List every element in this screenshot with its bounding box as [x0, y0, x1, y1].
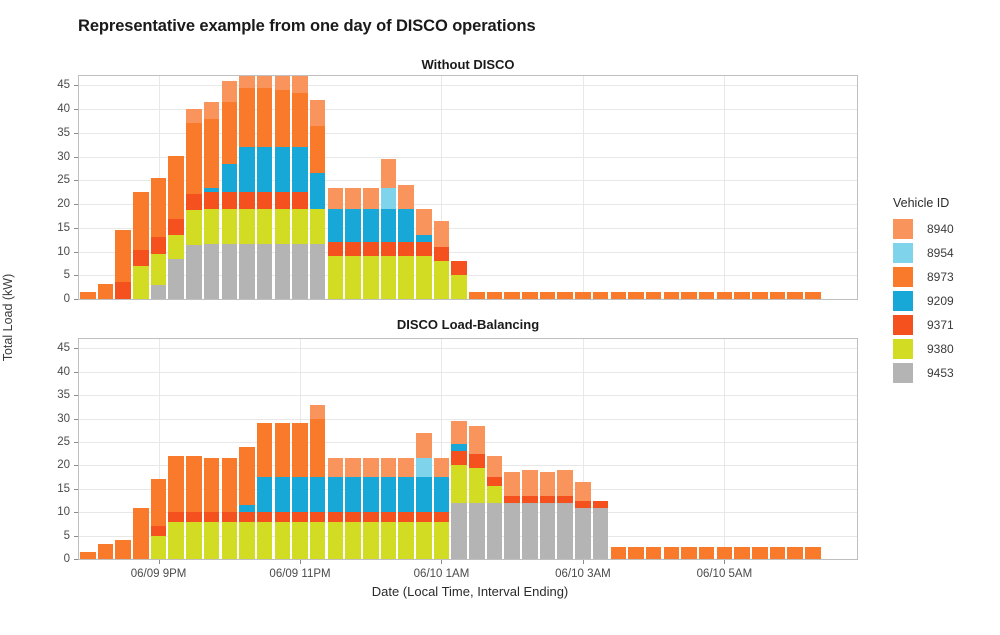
bar-segment-8940 — [239, 75, 255, 88]
bar-segment-9371 — [133, 250, 149, 266]
bar-segment-9453 — [292, 244, 308, 299]
bar-segment-9453 — [593, 508, 609, 559]
stacked-bar — [292, 423, 308, 559]
bar-segment-9453 — [222, 244, 238, 299]
bar-segment-8973 — [487, 292, 503, 299]
bar-segment-9371 — [222, 512, 238, 521]
stacked-bar — [275, 423, 291, 559]
bar-segment-8940 — [257, 75, 273, 88]
bar-segment-9209 — [398, 477, 414, 512]
bar-segment-8973 — [805, 547, 821, 559]
bar-segment-8973 — [80, 552, 96, 559]
bar-segment-9371 — [363, 512, 379, 521]
bar-segment-8940 — [328, 458, 344, 477]
bar-segment-8973 — [611, 292, 627, 299]
bar-segment-8973 — [204, 458, 220, 512]
x-axis-tick-label: 06/09 9PM — [131, 568, 187, 580]
bar-segment-9371 — [328, 242, 344, 256]
bar-segment-9380 — [151, 536, 167, 559]
bar-segment-8940 — [504, 472, 520, 495]
bar-segment-9380 — [345, 256, 361, 299]
bar-segment-8973 — [151, 479, 167, 526]
bar-segment-9453 — [487, 503, 503, 559]
stacked-bar — [133, 192, 149, 299]
bar-segment-9209 — [381, 209, 397, 242]
x-axis-tick-mark — [159, 560, 160, 564]
stacked-bar — [557, 470, 573, 559]
stacked-bar — [540, 472, 556, 559]
y-axis-tick-mark — [74, 133, 78, 134]
stacked-bar — [628, 547, 644, 559]
stacked-bar — [717, 292, 733, 299]
bar-segment-9371 — [328, 512, 344, 521]
bar-segment-9371 — [257, 192, 273, 209]
legend-label: 9209 — [927, 294, 954, 308]
bar-segment-9209 — [416, 477, 432, 512]
bar-segment-9371 — [575, 501, 591, 508]
bar-segment-8940 — [381, 458, 397, 477]
bar-segment-9371 — [416, 242, 432, 256]
bar-segment-8973 — [168, 156, 184, 219]
legend-swatch-icon — [893, 315, 913, 335]
stacked-bar — [98, 284, 114, 299]
bar-segment-8940 — [434, 221, 450, 247]
stacked-bar — [681, 292, 697, 299]
bar-segment-9380 — [434, 261, 450, 299]
legend-label: 9371 — [927, 318, 954, 332]
bar-segment-9380 — [239, 209, 255, 245]
y-axis-tick-label: 20 — [36, 198, 70, 210]
bar-segment-9371 — [186, 194, 202, 210]
bar-segment-9453 — [504, 503, 520, 559]
stacked-bar — [752, 547, 768, 559]
gridline-horizontal — [79, 372, 857, 373]
stacked-bar — [805, 292, 821, 299]
stacked-bar — [787, 292, 803, 299]
x-axis-tick-label: 06/10 3AM — [555, 568, 611, 580]
legend-item-8954[interactable]: 8954 — [893, 241, 954, 265]
bar-segment-8973 — [222, 458, 238, 512]
stacked-bar — [575, 292, 591, 299]
x-axis-tick-mark — [300, 560, 301, 564]
bar-segment-8940 — [540, 472, 556, 495]
bar-segment-9380 — [186, 210, 202, 246]
bar-segment-9453 — [275, 244, 291, 299]
bar-segment-9209 — [239, 147, 255, 192]
bar-segment-9209 — [451, 444, 467, 451]
bar-segment-9380 — [204, 209, 220, 245]
y-axis-tick-label: 10 — [36, 506, 70, 518]
stacked-bar — [239, 447, 255, 559]
bar-segment-9371 — [522, 496, 538, 503]
bar-segment-8940 — [434, 458, 450, 477]
stacked-bar — [204, 458, 220, 559]
stacked-bar — [451, 421, 467, 559]
y-axis-tick-mark — [74, 299, 78, 300]
legend-title: Vehicle ID — [893, 196, 954, 210]
bar-segment-8940 — [381, 159, 397, 187]
y-axis-tick-mark — [74, 442, 78, 443]
stacked-bar — [416, 433, 432, 559]
bar-segment-9371 — [345, 242, 361, 256]
bar-segment-8940 — [345, 458, 361, 477]
bar-segment-9380 — [222, 522, 238, 559]
stacked-bar — [734, 547, 750, 559]
bar-segment-9380 — [133, 266, 149, 299]
bar-segment-9380 — [275, 522, 291, 559]
stacked-bar — [469, 292, 485, 299]
bar-segment-9453 — [522, 503, 538, 559]
bar-segment-9209 — [345, 477, 361, 512]
gridline-horizontal — [79, 442, 857, 443]
bar-segment-9209 — [345, 209, 361, 242]
bar-segment-9371 — [451, 261, 467, 275]
bar-segment-9371 — [363, 242, 379, 256]
bar-segment-9371 — [292, 512, 308, 521]
bar-segment-8973 — [115, 540, 131, 559]
bar-segment-9453 — [540, 503, 556, 559]
y-axis-tick-mark — [74, 465, 78, 466]
bar-segment-8973 — [734, 292, 750, 299]
stacked-bar — [168, 456, 184, 559]
gridline-horizontal — [79, 395, 857, 396]
y-axis-tick-mark — [74, 228, 78, 229]
bar-segment-9380 — [292, 522, 308, 559]
y-axis-tick-label: 15 — [36, 483, 70, 495]
stacked-bar — [310, 405, 326, 559]
bar-segment-9371 — [381, 242, 397, 256]
bar-segment-9209 — [416, 235, 432, 242]
bar-segment-9209 — [434, 477, 450, 512]
bar-segment-9380 — [168, 522, 184, 559]
bar-segment-9453 — [239, 244, 255, 299]
bar-segment-9380 — [381, 522, 397, 559]
stacked-bar — [664, 547, 680, 559]
bar-segment-8973 — [628, 292, 644, 299]
stacked-bar — [434, 221, 450, 299]
bar-segment-9371 — [469, 454, 485, 468]
bar-segment-8973 — [275, 90, 291, 147]
bar-segment-8973 — [752, 547, 768, 559]
y-axis-title: Total Load (kW) — [0, 0, 18, 635]
bar-segment-9371 — [151, 237, 167, 254]
stacked-bar — [115, 230, 131, 299]
stacked-bar — [469, 426, 485, 559]
stacked-bar — [381, 458, 397, 559]
bar-segment-9380 — [416, 522, 432, 559]
stacked-bar — [646, 547, 662, 559]
bar-segment-8973 — [168, 456, 184, 512]
y-axis-tick-label: 10 — [36, 246, 70, 258]
bar-segment-9371 — [593, 501, 609, 508]
bar-segment-9209 — [363, 209, 379, 242]
stacked-bar — [257, 423, 273, 559]
bar-segment-8973 — [292, 93, 308, 148]
bar-segment-9380 — [204, 522, 220, 559]
bar-segment-8940 — [575, 482, 591, 501]
bar-segment-9371 — [487, 477, 503, 486]
stacked-bar — [98, 544, 114, 559]
bar-segment-9209 — [310, 477, 326, 512]
bar-segment-8973 — [151, 178, 167, 237]
bar-segment-9209 — [381, 477, 397, 512]
bar-segment-9371 — [292, 192, 308, 209]
bar-segment-8973 — [133, 508, 149, 559]
y-axis-tick-mark — [74, 180, 78, 181]
legend-label: 8940 — [927, 222, 954, 236]
bar-segment-8973 — [257, 423, 273, 477]
bar-segment-8940 — [398, 185, 414, 209]
figure-title: Representative example from one day of D… — [78, 17, 536, 36]
gridline-horizontal — [79, 419, 857, 420]
bar-segment-9371 — [204, 192, 220, 209]
bar-segment-9371 — [451, 451, 467, 465]
bar-segment-8973 — [664, 547, 680, 559]
y-axis-tick-mark — [74, 395, 78, 396]
bar-segment-9209 — [257, 477, 273, 512]
bar-segment-8940 — [469, 426, 485, 454]
bar-segment-9380 — [487, 486, 503, 502]
bar-segment-9371 — [398, 242, 414, 256]
stacked-bar — [575, 482, 591, 559]
bar-segment-9209 — [275, 147, 291, 192]
bar-segment-8973 — [770, 292, 786, 299]
gridline-vertical — [724, 76, 725, 299]
bar-segment-9453 — [186, 245, 202, 299]
legend-swatch-icon — [893, 219, 913, 239]
stacked-bar — [487, 292, 503, 299]
bar-segment-9380 — [328, 522, 344, 559]
bar-segment-8973 — [239, 88, 255, 147]
y-axis-tick-mark — [74, 204, 78, 205]
stacked-bar — [186, 109, 202, 299]
stacked-bar — [186, 456, 202, 559]
y-axis-tick-label: 35 — [36, 389, 70, 401]
bar-segment-8973 — [522, 292, 538, 299]
legend-item-9371[interactable]: 9371 — [893, 313, 954, 337]
bar-segment-8973 — [133, 192, 149, 250]
gridline-horizontal — [79, 559, 857, 560]
bar-segment-9371 — [416, 512, 432, 521]
y-axis-tick-mark — [74, 85, 78, 86]
y-axis-tick-label: 25 — [36, 174, 70, 186]
legend: Vehicle ID 8940895489739209937193809453 — [893, 196, 954, 385]
stacked-bar — [611, 292, 627, 299]
stacked-bar — [151, 479, 167, 559]
bar-segment-9371 — [345, 512, 361, 521]
stacked-bar — [734, 292, 750, 299]
stacked-bar — [752, 292, 768, 299]
bar-segment-9371 — [168, 512, 184, 521]
bar-segment-9380 — [381, 256, 397, 299]
stacked-bar — [204, 102, 220, 299]
bar-segment-8954 — [381, 188, 397, 209]
bar-segment-9371 — [381, 512, 397, 521]
y-axis-tick-mark — [74, 372, 78, 373]
bar-segment-8973 — [540, 292, 556, 299]
bar-segment-9371 — [151, 526, 167, 535]
bar-segment-8973 — [115, 230, 131, 282]
stacked-bar — [257, 75, 273, 299]
stacked-bar — [504, 472, 520, 559]
bar-segment-8973 — [186, 123, 202, 194]
stacked-bar — [699, 292, 715, 299]
bar-segment-8973 — [557, 292, 573, 299]
stacked-bar — [628, 292, 644, 299]
bar-segment-9380 — [434, 522, 450, 559]
legend-label: 9380 — [927, 342, 954, 356]
bar-segment-9209 — [204, 188, 220, 193]
bar-segment-8954 — [416, 458, 432, 477]
panel-title-disco-load-balancing: DISCO Load-Balancing — [78, 317, 858, 332]
bar-segment-9453 — [575, 508, 591, 559]
plot-without-disco — [78, 75, 858, 300]
legend-swatch-icon — [893, 243, 913, 263]
y-axis-tick-label: 25 — [36, 436, 70, 448]
bar-segment-8973 — [575, 292, 591, 299]
bar-segment-8973 — [239, 447, 255, 506]
bar-segment-8973 — [681, 292, 697, 299]
bar-segment-8973 — [717, 292, 733, 299]
y-axis-tick-mark — [74, 252, 78, 253]
stacked-bar — [805, 547, 821, 559]
bar-segment-9371 — [434, 247, 450, 261]
stacked-bar — [80, 292, 96, 299]
legend-label: 9453 — [927, 366, 954, 380]
stacked-bar — [699, 547, 715, 559]
legend-item-9453[interactable]: 9453 — [893, 361, 954, 385]
bar-segment-9380 — [398, 522, 414, 559]
x-axis-tick-label: 06/10 1AM — [414, 568, 470, 580]
bar-segment-9380 — [275, 209, 291, 245]
gridline-horizontal — [79, 348, 857, 349]
bar-segment-9453 — [557, 503, 573, 559]
y-axis-tick-label: 0 — [36, 293, 70, 305]
bar-segment-9209 — [292, 147, 308, 192]
stacked-bar — [593, 501, 609, 560]
x-axis-title: Date (Local Time, Interval Ending) — [85, 584, 855, 599]
x-axis-tick-label: 06/09 11PM — [269, 568, 330, 580]
bar-segment-8973 — [80, 292, 96, 299]
plot-disco-load-balancing — [78, 338, 858, 560]
bar-segment-8940 — [222, 81, 238, 102]
bar-segment-8940 — [451, 421, 467, 444]
panel-title-without-disco: Without DISCO — [78, 57, 858, 72]
bar-segment-8973 — [98, 544, 114, 559]
bar-segment-8973 — [611, 547, 627, 559]
bar-segment-8973 — [734, 547, 750, 559]
stacked-bar — [328, 458, 344, 559]
bar-segment-8940 — [310, 405, 326, 419]
stacked-bar — [328, 188, 344, 300]
bar-segment-9371 — [504, 496, 520, 503]
stacked-bar — [310, 100, 326, 299]
bar-segment-9371 — [310, 512, 326, 521]
legend-item-9209[interactable]: 9209 — [893, 289, 954, 313]
bar-segment-9380 — [310, 209, 326, 245]
legend-swatch-icon — [893, 363, 913, 383]
bar-segment-8973 — [204, 119, 220, 188]
bar-segment-8973 — [681, 547, 697, 559]
bar-segment-9209 — [239, 505, 255, 512]
bar-segment-9371 — [168, 219, 184, 235]
gridline-horizontal — [79, 299, 857, 300]
bar-segment-8973 — [646, 547, 662, 559]
bar-segment-8973 — [787, 547, 803, 559]
stacked-bar — [487, 456, 503, 559]
y-axis-tick-label: 0 — [36, 553, 70, 565]
bar-segment-9380 — [345, 522, 361, 559]
stacked-bar — [717, 547, 733, 559]
y-axis-tick-mark — [74, 419, 78, 420]
bar-segment-8940 — [416, 209, 432, 235]
x-axis-tick-mark — [583, 560, 584, 564]
stacked-bar — [398, 185, 414, 299]
gridline-horizontal — [79, 85, 857, 86]
bar-segment-9380 — [151, 254, 167, 285]
bar-segment-9209 — [222, 164, 238, 192]
bar-segment-8973 — [664, 292, 680, 299]
stacked-bar — [133, 508, 149, 559]
stacked-bar — [398, 458, 414, 559]
bar-segment-9453 — [204, 244, 220, 299]
stacked-bar — [504, 292, 520, 299]
bar-segment-9453 — [151, 285, 167, 299]
x-axis-tick-label: 06/10 5AM — [697, 568, 753, 580]
bar-segment-9453 — [168, 259, 184, 299]
y-axis-tick-mark — [74, 157, 78, 158]
stacked-bar — [787, 547, 803, 559]
stacked-bar — [451, 261, 467, 299]
bar-segment-8973 — [699, 292, 715, 299]
stacked-bar — [363, 458, 379, 559]
legend-swatch-icon — [893, 267, 913, 287]
stacked-bar — [593, 292, 609, 299]
y-axis-tick-mark — [74, 559, 78, 560]
stacked-bar — [770, 547, 786, 559]
x-axis-tick-mark — [441, 560, 442, 564]
bar-segment-8973 — [310, 126, 326, 173]
stacked-bar — [222, 81, 238, 299]
bar-segment-8973 — [787, 292, 803, 299]
bar-segment-8973 — [310, 419, 326, 478]
bar-segment-9453 — [257, 244, 273, 299]
gridline-vertical — [724, 339, 725, 559]
stacked-bar — [222, 458, 238, 559]
bar-segment-9380 — [451, 465, 467, 502]
y-axis-tick-mark — [74, 512, 78, 513]
bar-segment-9371 — [186, 512, 202, 521]
bar-segment-9453 — [469, 503, 485, 559]
bar-segment-8940 — [186, 109, 202, 123]
legend-item-9380[interactable]: 9380 — [893, 337, 954, 361]
bar-segment-8973 — [257, 88, 273, 147]
bar-segment-9371 — [115, 282, 131, 299]
stacked-bar — [168, 156, 184, 299]
legend-item-8940[interactable]: 8940 — [893, 217, 954, 241]
bar-segment-8940 — [487, 456, 503, 477]
bar-segment-9371 — [557, 496, 573, 503]
stacked-bar — [540, 292, 556, 299]
y-axis-tick-label: 45 — [36, 79, 70, 91]
bar-segment-9209 — [310, 173, 326, 209]
legend-item-8973[interactable]: 8973 — [893, 265, 954, 289]
bar-segment-8973 — [504, 292, 520, 299]
bar-segment-9380 — [310, 522, 326, 559]
stacked-bar — [345, 458, 361, 559]
bar-segment-9380 — [363, 522, 379, 559]
x-axis-tick-mark — [724, 560, 725, 564]
